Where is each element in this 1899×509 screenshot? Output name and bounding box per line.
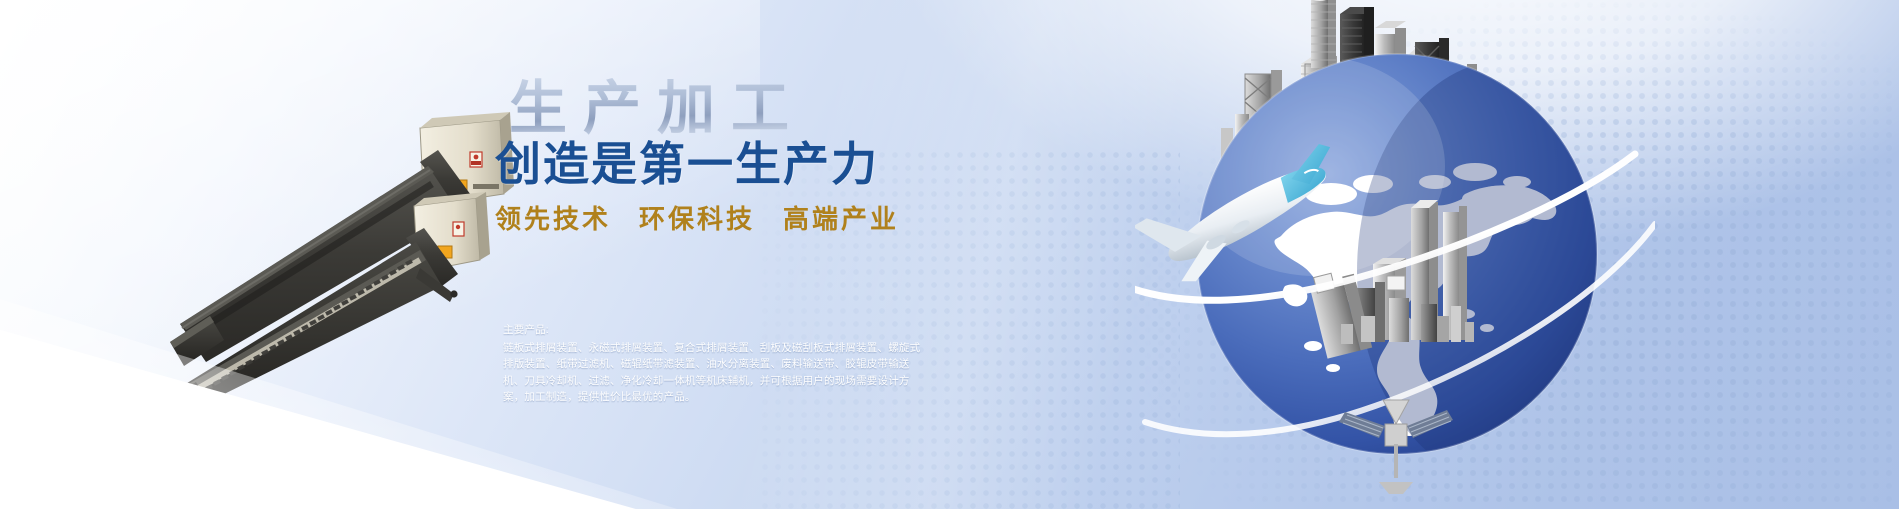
chip-conveyor-machines xyxy=(120,110,540,410)
tag-item-2: 高端产业 xyxy=(783,205,899,234)
headline-block: 生产加工 创造是第一生产力 领先技术环保科技高端产业 xyxy=(495,78,965,236)
headline-subtitle: 创造是第一生产力 xyxy=(495,139,965,191)
product-description-body: 链板式排屑装置、永磁式排屑装置、复合式排屑装置、刮板及磁刮板式排屑装置、螺旋式排… xyxy=(503,340,921,406)
promo-banner: 生产加工 创造是第一生产力 领先技术环保科技高端产业 主要产品: 链板式排屑装置… xyxy=(0,0,1899,509)
tag-item-1: 环保科技 xyxy=(639,205,755,234)
chip-conveyor-lower xyxy=(156,192,490,410)
tag-item-0: 领先技术 xyxy=(495,205,611,234)
product-description-title: 主要产品: xyxy=(503,322,921,339)
headline-main: 生产加工 xyxy=(509,78,965,141)
product-description: 主要产品: 链板式排屑装置、永磁式排屑装置、复合式排屑装置、刮板及磁刮板式排屑装… xyxy=(503,322,921,406)
earth-globe-graphic xyxy=(1135,0,1655,509)
headline-tags: 领先技术环保科技高端产业 xyxy=(495,199,965,236)
